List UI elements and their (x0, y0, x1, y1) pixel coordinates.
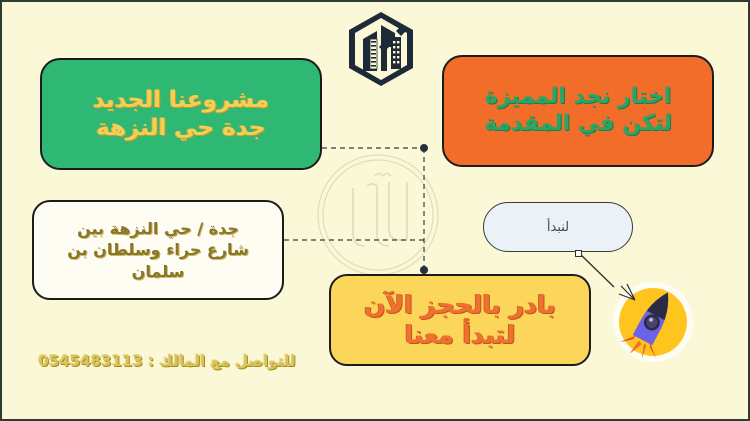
slogan-line-2: لتكن في المقدمة (444, 111, 712, 138)
booking-cta-line-1: بادر بالحجز الآن (331, 290, 589, 321)
start-button-drag-handle[interactable] (575, 250, 582, 257)
address-line-2: شارع حراء وسلطان بن (44, 239, 272, 261)
address-line-3: سلمان (44, 261, 272, 283)
company-hexagon-logo (343, 9, 419, 89)
project-title-card[interactable]: مشروعنا الجديد جدة حي النزهة (40, 58, 322, 170)
booking-cta-card[interactable]: بادر بالحجز الآن لتبدأ معنا (329, 274, 591, 366)
promo-board: مشروعنا الجديد جدة حي النزهة اختار نجد ا… (0, 0, 750, 421)
owner-contact-text: للتواصل مع المالك : 0545483113 (32, 352, 302, 370)
address-card[interactable]: جدة / حي النزهة بين شارع حراء وسلطان بن … (32, 200, 284, 300)
arabic-calligraphy-watermark (315, 152, 441, 278)
address-line-1: جدة / حي النزهة بين (44, 218, 272, 240)
start-button-label: لنبدأ (547, 220, 569, 235)
project-title-line-1: مشروعنا الجديد (42, 86, 320, 114)
start-button[interactable]: لنبدأ (483, 202, 633, 252)
slogan-line-1: اختار نجد المميزة (444, 84, 712, 111)
rocket-icon (605, 274, 697, 366)
slogan-card[interactable]: اختار نجد المميزة لتكن في المقدمة (442, 55, 714, 167)
booking-cta-line-2: لتبدأ معنا (331, 320, 589, 351)
project-title-line-2: جدة حي النزهة (42, 114, 320, 142)
